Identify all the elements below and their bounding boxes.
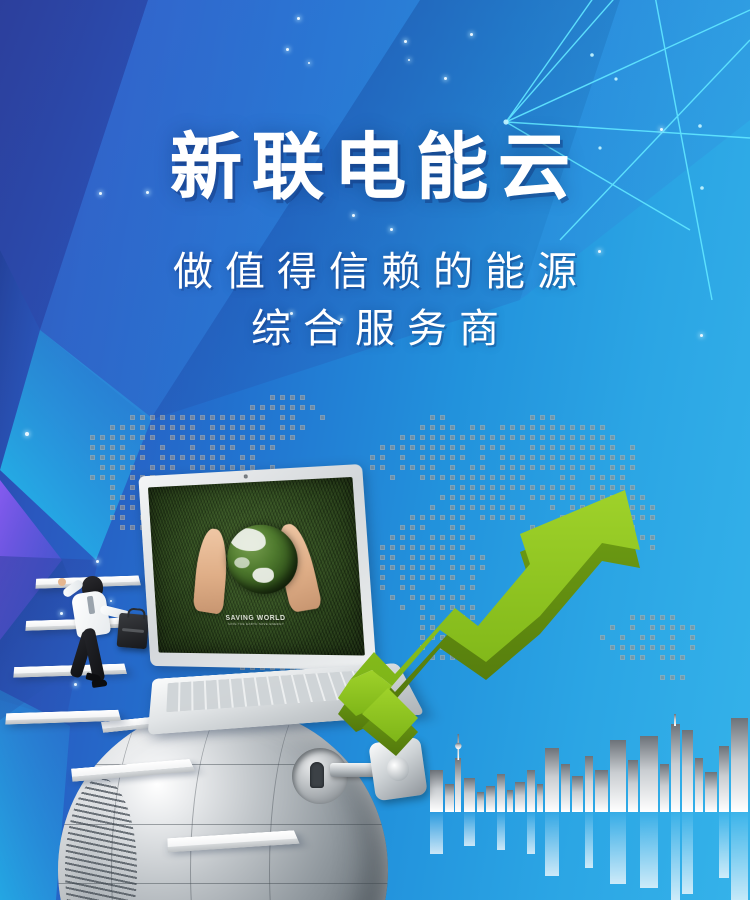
world-map-dot [280, 415, 285, 420]
world-map-dot [270, 405, 275, 410]
city-skyline [428, 712, 750, 900]
world-map-dot [540, 415, 545, 420]
world-map-dot [160, 415, 165, 420]
subtitle-line-1: 做值得信赖的能源 [0, 244, 750, 301]
network-constellation [0, 0, 750, 460]
page-title: 新联电能云 [0, 132, 750, 204]
world-map-dot [220, 415, 225, 420]
world-map-dot [150, 415, 155, 420]
world-map-dot [260, 405, 265, 410]
brand-title: 新联电能云 [170, 132, 580, 204]
poster-canvas: 新联电能云 做值得信赖的能源 综合服务商 [0, 0, 750, 900]
silver-laptop: SAVING WORLD SAVE THE EARTH SAVE ENERGY [118, 470, 418, 770]
laptop-lid: SAVING WORLD SAVE THE EARTH SAVE ENERGY [138, 464, 376, 670]
accessible-headline: 新联电能云 [0, 0, 1, 1]
hero-illustration: SAVING WORLD SAVE THE EARTH SAVE ENERGY [0, 430, 750, 900]
world-map-dot [310, 405, 315, 410]
world-map-dot [280, 405, 285, 410]
world-map-dot [530, 415, 535, 420]
world-map-dot [290, 405, 295, 410]
world-map-dot [180, 415, 185, 420]
world-map-dot [210, 415, 215, 420]
subtitle-line-2: 综合服务商 [0, 301, 750, 358]
businessman-hand [58, 578, 66, 586]
world-map-dot [270, 395, 275, 400]
laptop-keyboard [166, 671, 369, 713]
world-map-dot [440, 415, 445, 420]
world-map-dot [230, 415, 235, 420]
businessman-shoe [92, 679, 108, 688]
world-map-dot [170, 415, 175, 420]
world-map-dot [130, 415, 135, 420]
world-map-dot [190, 415, 195, 420]
world-map-dot [140, 415, 145, 420]
laptop-base [148, 663, 425, 735]
world-map-dot [430, 415, 435, 420]
world-map-dot [260, 415, 265, 420]
key-bow [368, 737, 428, 802]
world-map-dot [280, 395, 285, 400]
screen-caption: SAVING WORLD SAVE THE EARTH SAVE ENERGY [156, 615, 363, 626]
subtitle-block: 做值得信赖的能源 综合服务商 [0, 244, 750, 358]
laptop-screen: SAVING WORLD SAVE THE EARTH SAVE ENERGY [148, 477, 365, 656]
world-map-dot [250, 415, 255, 420]
screen-caption-subtext: SAVE THE EARTH SAVE ENERGY [157, 622, 363, 627]
world-map-dot [250, 405, 255, 410]
world-map-dot [550, 415, 555, 420]
webcam-icon [244, 474, 248, 478]
world-map-dot [200, 415, 205, 420]
world-map-dot [290, 395, 295, 400]
world-map-dot [290, 415, 295, 420]
world-map-dot [320, 415, 325, 420]
world-map-dot [300, 405, 305, 410]
world-map-dot [300, 395, 305, 400]
world-map-dot [240, 415, 245, 420]
laptop-trackpad [348, 693, 403, 714]
